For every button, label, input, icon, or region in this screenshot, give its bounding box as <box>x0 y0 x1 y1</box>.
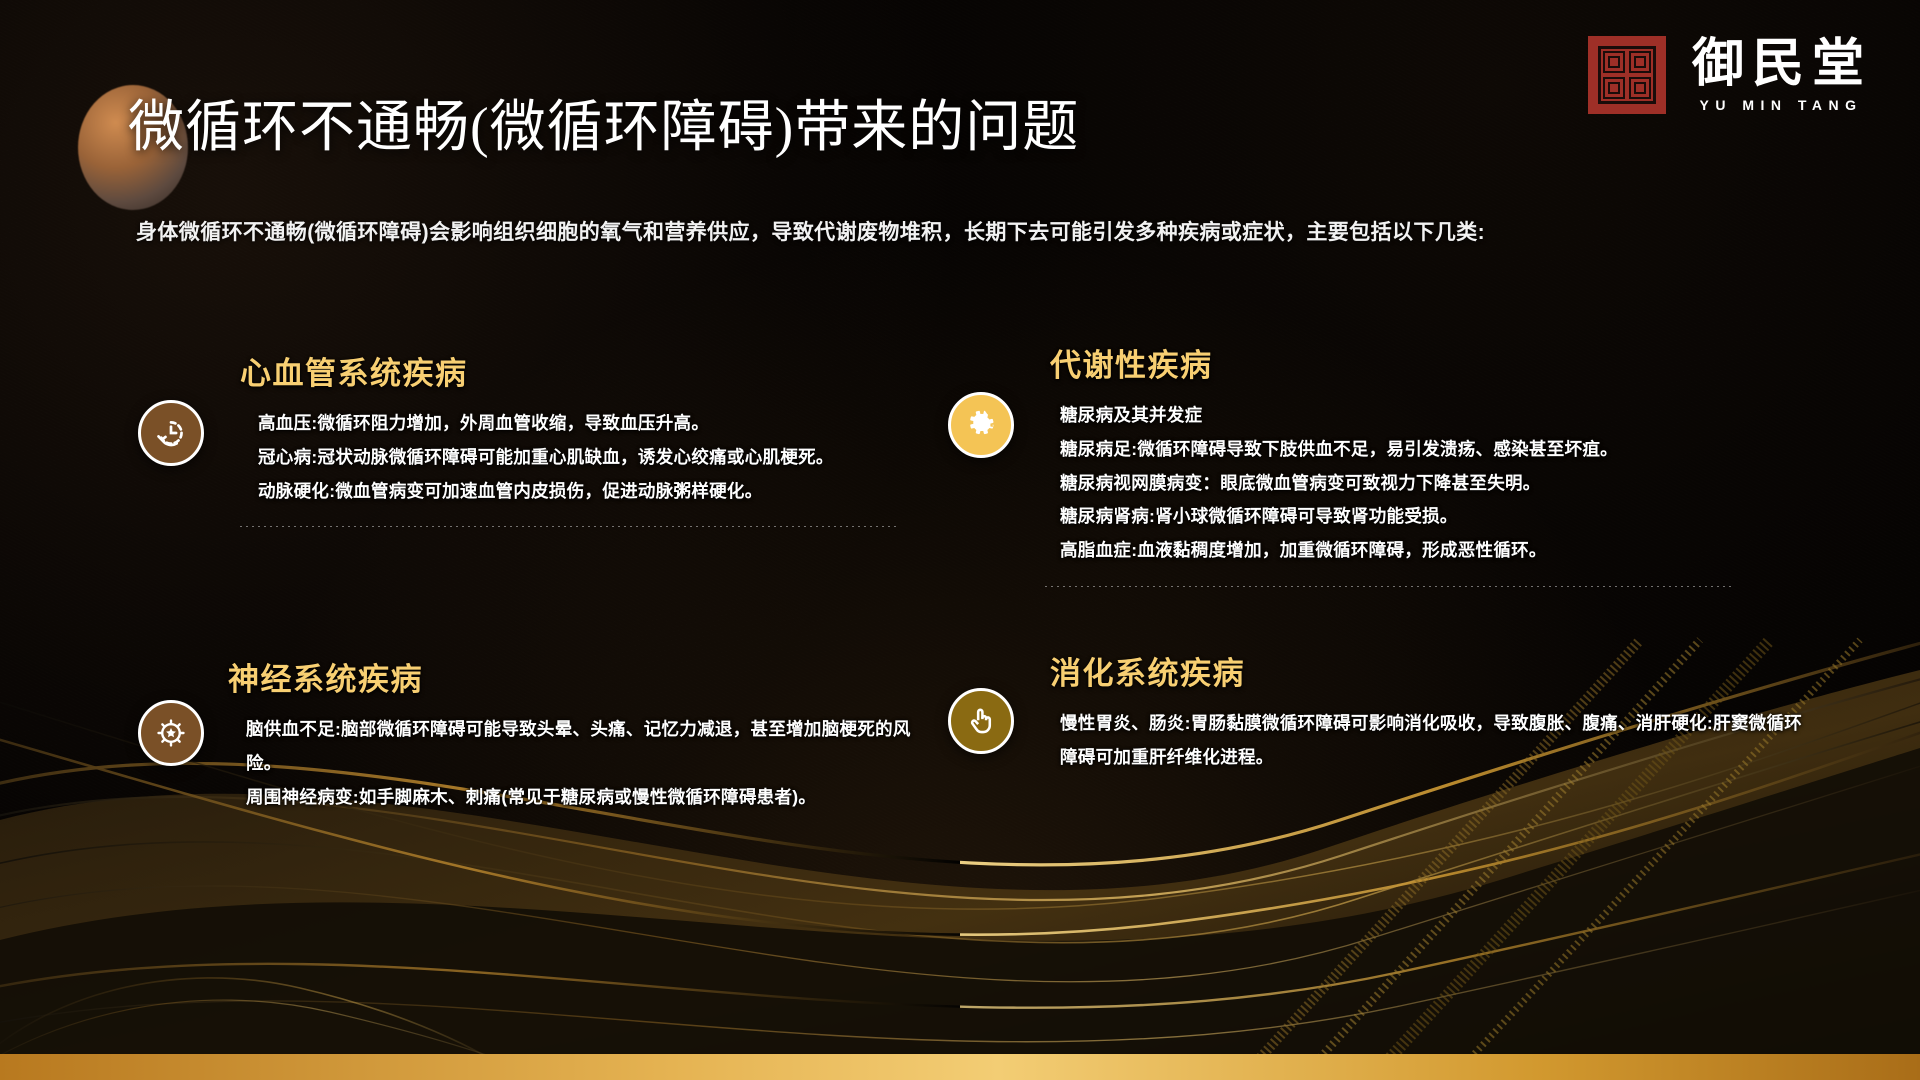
section-body: 慢性胃炎、肠炎:胃肠黏膜微循环障碍可影响消化吸收，导致腹胀、腹痛、消肝硬化:肝窦… <box>1050 707 1810 775</box>
section-divider <box>240 526 900 527</box>
section-heading: 消化系统疾病 <box>1050 648 1810 693</box>
seal-stamp-icon <box>1588 36 1666 114</box>
section-line: 动脉硬化:微血管病变可加速血管内皮损伤，促进动脉粥样硬化。 <box>258 475 930 509</box>
section-line: 慢性胃炎、肠炎:胃肠黏膜微循环障碍可影响消化吸收，导致腹胀、腹痛、消肝硬化:肝窦… <box>1060 707 1810 775</box>
icon-badge-nervous[interactable] <box>138 700 204 766</box>
section-heading: 神经系统疾病 <box>228 654 928 699</box>
section-body: 脑供血不足:脑部微循环障碍可能导致头晕、头痛、记忆力减退，甚至增加脑梗死的风险。… <box>228 713 928 814</box>
logo-pinyin: YU MIN TANG <box>1693 97 1862 113</box>
section-metabolic: 代谢性疾病 糖尿病及其并发症 糖尿病足:微循环障碍导致下肢供血不足，易引发溃疡、… <box>1050 340 1750 587</box>
section-nervous: 神经系统疾病 脑供血不足:脑部微循环障碍可能导致头晕、头痛、记忆力减退，甚至增加… <box>228 654 928 814</box>
page-title: 微循环不通畅(微循环障碍)带来的问题 <box>128 95 1079 161</box>
section-cardiovascular: 心血管系统疾病 高血压:微循环阻力增加，外周血管收缩，导致血压升高。 冠心病:冠… <box>240 348 930 527</box>
hand-touch-icon <box>964 704 998 738</box>
section-line: 糖尿病及其并发症 <box>1060 399 1750 433</box>
section-line: 糖尿病肾病:肾小球微循环障碍可导致肾功能受损。 <box>1060 500 1750 534</box>
section-digestive: 消化系统疾病 慢性胃炎、肠炎:胃肠黏膜微循环障碍可影响消化吸收，导致腹胀、腹痛、… <box>1050 648 1810 775</box>
section-heading: 心血管系统疾病 <box>240 348 930 393</box>
gear-icon <box>964 408 998 442</box>
section-line: 高血压:微循环阻力增加，外周血管收缩，导致血压升高。 <box>258 407 930 441</box>
section-body: 糖尿病及其并发症 糖尿病足:微循环障碍导致下肢供血不足，易引发溃疡、感染甚至坏疽… <box>1050 399 1750 568</box>
section-line: 冠心病:冠状动脉微循环障碍可能加重心肌缺血，诱发心绞痛或心肌梗死。 <box>258 441 930 475</box>
logo-chinese-name: 御民堂 <box>1684 37 1872 92</box>
slide-header: 微循环不通畅(微循环障碍)带来的问题 身体微循环不通畅(微循环障碍)会影响组织细… <box>0 0 1920 270</box>
bottom-gold-bar <box>0 1054 1920 1080</box>
brand-logo: 御民堂 YU MIN TANG <box>1588 36 1872 114</box>
clock-history-icon <box>154 416 188 450</box>
section-heading: 代谢性疾病 <box>1050 340 1750 385</box>
section-line: 高脂血症:血液黏稠度增加，加重微循环障碍，形成恶性循环。 <box>1060 534 1750 568</box>
icon-badge-metabolic[interactable] <box>948 392 1014 458</box>
section-line: 周围神经病变:如手脚麻木、刺痛(常见于糖尿病或慢性微循环障碍患者)。 <box>246 781 928 815</box>
star-badge-icon <box>154 716 188 750</box>
section-line: 糖尿病足:微循环障碍导致下肢供血不足，易引发溃疡、感染甚至坏疽。 <box>1060 433 1750 467</box>
icon-badge-digestive[interactable] <box>948 688 1014 754</box>
section-line: 脑供血不足:脑部微循环障碍可能导致头晕、头痛、记忆力减退，甚至增加脑梗死的风险。 <box>246 713 928 781</box>
section-divider <box>1045 586 1735 587</box>
page-subtitle: 身体微循环不通畅(微循环障碍)会影响组织细胞的氧气和营养供应，导致代谢废物堆积，… <box>136 216 1485 246</box>
section-line: 糖尿病视网膜病变：眼底微血管病变可致视力下降甚至失明。 <box>1060 467 1750 501</box>
section-body: 高血压:微循环阻力增加，外周血管收缩，导致血压升高。 冠心病:冠状动脉微循环障碍… <box>240 407 930 508</box>
icon-badge-cardiovascular[interactable] <box>138 400 204 466</box>
